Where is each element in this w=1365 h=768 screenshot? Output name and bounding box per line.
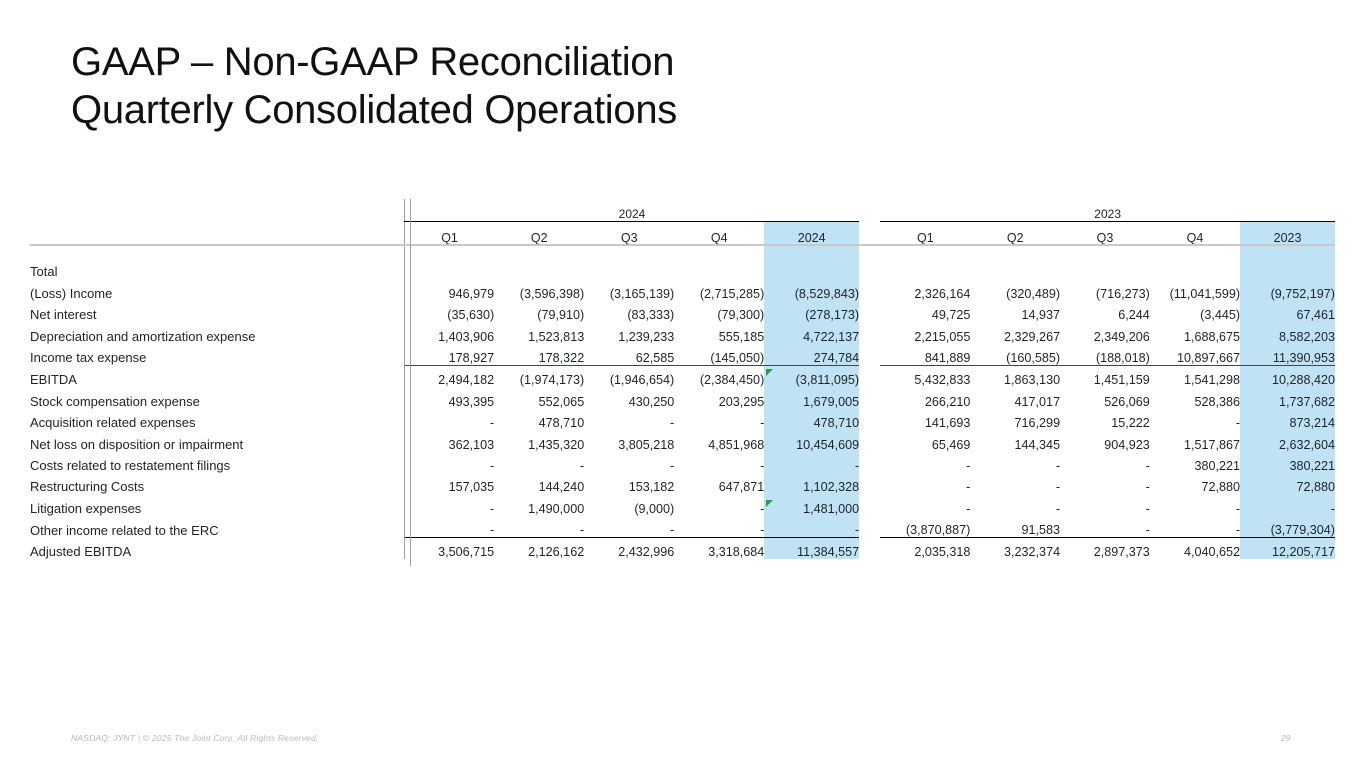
section-label-total: Total — [30, 258, 404, 279]
cell-2023-total: 2,632,604 — [1240, 430, 1335, 451]
cell-2024-q2: 178,322 — [494, 344, 584, 366]
table-row: Other income related to the ERC-----(3,8… — [30, 516, 1335, 538]
table-row: Restructuring Costs157,035144,240153,182… — [30, 473, 1335, 494]
col-header-2023-q1: Q1 — [880, 222, 970, 246]
cell-2024-q3: 153,182 — [584, 473, 674, 494]
cell-2023-q1: (3,870,887) — [880, 516, 970, 538]
block-gap — [859, 430, 880, 451]
col-header-2023-q2: Q2 — [970, 222, 1060, 246]
cell-2024-q2: 144,240 — [494, 473, 584, 494]
cell-2023-q1: - — [880, 494, 970, 515]
empty-cell — [404, 258, 494, 279]
cell-2024-total: - — [764, 452, 859, 473]
quarter-row-spacer — [30, 222, 404, 246]
comment-marker-icon — [766, 369, 773, 376]
quarter-header-row: Q1 Q2 Q3 Q4 2024 Q1 Q2 Q3 Q4 2023 — [30, 222, 1335, 246]
spacer-cell — [1060, 246, 1150, 259]
year-row-spacer — [30, 199, 404, 222]
col-header-2024-q4: Q4 — [674, 222, 764, 246]
cell-2023-q3: (716,273) — [1060, 279, 1150, 300]
cell-2024-q2: (3,596,398) — [494, 279, 584, 300]
empty-cell — [764, 258, 859, 279]
spacer-cell — [970, 246, 1060, 259]
cell-2024-total: 1,102,328 — [764, 473, 859, 494]
cell-2024-q3: 430,250 — [584, 387, 674, 408]
row-label: Depreciation and amortization expense — [30, 322, 404, 343]
spacer-cell — [764, 246, 859, 259]
empty-cell — [970, 258, 1060, 279]
cell-2024-total: 478,710 — [764, 409, 859, 430]
cell-2023-q2: 91,583 — [970, 516, 1060, 538]
table-row: Litigation expenses-1,490,000(9,000)-1,4… — [30, 494, 1335, 515]
spacer-cell — [880, 246, 970, 259]
cell-2023-total: 873,214 — [1240, 409, 1335, 430]
year-header-row: 2024 2023 — [30, 199, 1335, 222]
spacer-cell — [859, 246, 880, 259]
table-left-border — [410, 199, 411, 566]
cell-2023-q4: 10,897,667 — [1150, 344, 1240, 366]
cell-2024-q2: 552,065 — [494, 387, 584, 408]
cell-2024-total: 1,481,000 — [764, 494, 859, 515]
spacer-cell — [404, 246, 494, 259]
col-header-2023-q4: Q4 — [1150, 222, 1240, 246]
header-divider-rule — [30, 244, 1335, 245]
cell-2023-q4: - — [1150, 494, 1240, 515]
cell-2023-q3: 2,349,206 — [1060, 322, 1150, 343]
empty-cell — [880, 258, 970, 279]
cell-2024-q4: 647,871 — [674, 473, 764, 494]
cell-2024-q3: (1,946,654) — [584, 365, 674, 387]
col-header-2024-q2: Q2 — [494, 222, 584, 246]
block-gap — [859, 301, 880, 322]
cell-2023-q2: (320,489) — [970, 279, 1060, 300]
empty-cell — [1150, 258, 1240, 279]
table-row: Net interest(35,630)(79,910)(83,333)(79,… — [30, 301, 1335, 322]
cell-2024-q4: 555,185 — [674, 322, 764, 343]
cell-2024-q2: - — [494, 452, 584, 473]
cell-2023-q3: - — [1060, 473, 1150, 494]
table-row: Depreciation and amortization expense1,4… — [30, 322, 1335, 343]
cell-2024-q1: 362,103 — [404, 430, 494, 451]
cell-2024-q1: - — [404, 516, 494, 538]
cell-2024-q2: (1,974,173) — [494, 365, 584, 387]
section-label-row: Total — [30, 258, 1335, 279]
cell-2023-q1: 2,215,055 — [880, 322, 970, 343]
cell-2023-q3: - — [1060, 516, 1150, 538]
cell-2023-q3: 904,923 — [1060, 430, 1150, 451]
row-label: Net interest — [30, 301, 404, 322]
cell-2024-q3: - — [584, 452, 674, 473]
cell-2023-q2: 716,299 — [970, 409, 1060, 430]
cell-2024-q4: - — [674, 494, 764, 515]
header-spacer-row — [30, 246, 1335, 259]
col-header-2024-q1: Q1 — [404, 222, 494, 246]
cell-2024-q1: 157,035 — [404, 473, 494, 494]
cell-2024-q2: 1,435,320 — [494, 430, 584, 451]
table-body: Total (Loss) Income946,979(3,596,398)(3,… — [30, 246, 1335, 560]
cell-2024-q1: 493,395 — [404, 387, 494, 408]
spacer-cell — [584, 246, 674, 259]
block-gap — [859, 538, 880, 560]
cell-2023-q1: 65,469 — [880, 430, 970, 451]
cell-2024-q2: 2,126,162 — [494, 538, 584, 560]
empty-cell — [584, 258, 674, 279]
cell-2024-q2: - — [494, 516, 584, 538]
cell-2024-q3: 2,432,996 — [584, 538, 674, 560]
cell-2023-q3: 1,451,159 — [1060, 365, 1150, 387]
cell-2023-total: 12,205,717 — [1240, 538, 1335, 560]
empty-cell — [1240, 258, 1335, 279]
row-label: Income tax expense — [30, 344, 404, 366]
block-gap — [859, 516, 880, 538]
cell-2024-q3: 62,585 — [584, 344, 674, 366]
cell-2024-q3: 1,239,233 — [584, 322, 674, 343]
cell-2024-q3: 3,805,218 — [584, 430, 674, 451]
table-row: (Loss) Income946,979(3,596,398)(3,165,13… — [30, 279, 1335, 300]
cell-2024-total: - — [764, 516, 859, 538]
cell-2023-q3: - — [1060, 452, 1150, 473]
cell-2023-q1: 5,432,833 — [880, 365, 970, 387]
cell-2023-total: 380,221 — [1240, 452, 1335, 473]
row-label: Other income related to the ERC — [30, 516, 404, 538]
cell-2024-q3: (83,333) — [584, 301, 674, 322]
empty-cell — [859, 258, 880, 279]
spacer-cell — [1150, 246, 1240, 259]
cell-2024-q1: - — [404, 494, 494, 515]
cell-2024-q2: 478,710 — [494, 409, 584, 430]
cell-2024-total: 11,384,557 — [764, 538, 859, 560]
cell-2023-q2: 144,345 — [970, 430, 1060, 451]
cell-2023-q4: 4,040,652 — [1150, 538, 1240, 560]
cell-2023-q4: - — [1150, 409, 1240, 430]
cell-2023-total: (9,752,197) — [1240, 279, 1335, 300]
block-gap — [859, 199, 880, 222]
cell-2024-total: 10,454,609 — [764, 430, 859, 451]
cell-2024-q1: (35,630) — [404, 301, 494, 322]
cell-2023-q2: - — [970, 494, 1060, 515]
cell-2023-q4: 1,688,675 — [1150, 322, 1240, 343]
year-header-2024: 2024 — [404, 199, 859, 222]
cell-2024-q3: - — [584, 409, 674, 430]
cell-2023-q4: (3,445) — [1150, 301, 1240, 322]
empty-cell — [1060, 258, 1150, 279]
cell-2024-q4: 203,295 — [674, 387, 764, 408]
cell-2024-q2: (79,910) — [494, 301, 584, 322]
block-gap — [859, 409, 880, 430]
cell-2024-q3: - — [584, 516, 674, 538]
cell-2024-q4: (2,384,450) — [674, 365, 764, 387]
cell-2024-q4: - — [674, 452, 764, 473]
cell-2024-q1: - — [404, 452, 494, 473]
row-label: EBITDA — [30, 365, 404, 387]
table-row: Income tax expense178,927178,32262,585(1… — [30, 344, 1335, 366]
cell-2023-total: 10,288,420 — [1240, 365, 1335, 387]
cell-2024-q4: - — [674, 516, 764, 538]
spacer-cell — [1240, 246, 1335, 259]
block-gap — [859, 222, 880, 246]
cell-2023-q3: 6,244 — [1060, 301, 1150, 322]
block-gap — [859, 365, 880, 387]
cell-2023-q1: 141,693 — [880, 409, 970, 430]
page-number: 29 — [1281, 733, 1290, 743]
block-gap — [859, 452, 880, 473]
row-label: Costs related to restatement filings — [30, 452, 404, 473]
table-row: Adjusted EBITDA3,506,7152,126,1622,432,9… — [30, 538, 1335, 560]
cell-2023-q1: - — [880, 452, 970, 473]
cell-2023-q3: 15,222 — [1060, 409, 1150, 430]
row-label: (Loss) Income — [30, 279, 404, 300]
cell-2024-q4: - — [674, 409, 764, 430]
cell-2023-q4: - — [1150, 516, 1240, 538]
cell-2023-q1: 841,889 — [880, 344, 970, 366]
cell-2023-q4: (11,041,599) — [1150, 279, 1240, 300]
cell-2023-q1: 2,035,318 — [880, 538, 970, 560]
cell-2023-q1: 49,725 — [880, 301, 970, 322]
table-row: Acquisition related expenses-478,710--47… — [30, 409, 1335, 430]
cell-2023-q3: (188,018) — [1060, 344, 1150, 366]
cell-2023-q3: 526,069 — [1060, 387, 1150, 408]
reconciliation-table: 2024 2023 Q1 Q2 Q3 Q4 2024 Q1 Q2 Q3 Q4 2… — [30, 199, 1335, 559]
col-header-2023-total: 2023 — [1240, 222, 1335, 246]
cell-2023-total: 8,582,203 — [1240, 322, 1335, 343]
table-row: Net loss on disposition or impairment362… — [30, 430, 1335, 451]
row-label: Acquisition related expenses — [30, 409, 404, 430]
cell-2024-q1: 946,979 — [404, 279, 494, 300]
cell-2023-q2: 3,232,374 — [970, 538, 1060, 560]
cell-2024-total: (278,173) — [764, 301, 859, 322]
cell-2023-total: (3,779,304) — [1240, 516, 1335, 538]
cell-2024-q1: 2,494,182 — [404, 365, 494, 387]
row-label: Net loss on disposition or impairment — [30, 430, 404, 451]
row-label: Adjusted EBITDA — [30, 538, 404, 560]
block-gap — [859, 494, 880, 515]
cell-2024-total: (8,529,843) — [764, 279, 859, 300]
cell-2023-q4: 380,221 — [1150, 452, 1240, 473]
cell-2024-q4: (79,300) — [674, 301, 764, 322]
cell-2023-q4: 528,386 — [1150, 387, 1240, 408]
table-row: Costs related to restatement filings----… — [30, 452, 1335, 473]
cell-2024-q4: (145,050) — [674, 344, 764, 366]
col-header-2024-total: 2024 — [764, 222, 859, 246]
block-gap — [859, 279, 880, 300]
cell-2024-total: (3,811,095) — [764, 365, 859, 387]
cell-2024-q1: 3,506,715 — [404, 538, 494, 560]
cell-2023-q4: 72,880 — [1150, 473, 1240, 494]
cell-2023-q4: 1,541,298 — [1150, 365, 1240, 387]
page-title: GAAP – Non-GAAP Reconciliation Quarterly… — [71, 38, 971, 134]
cell-2023-total: 1,737,682 — [1240, 387, 1335, 408]
block-gap — [859, 387, 880, 408]
cell-2023-q2: (160,585) — [970, 344, 1060, 366]
cell-2024-q4: (2,715,285) — [674, 279, 764, 300]
cell-2023-q2: 14,937 — [970, 301, 1060, 322]
footer-legal-text: NASDAQ: JYNT | © 2025 The Joint Corp. Al… — [71, 733, 318, 743]
cell-2023-q2: 1,863,130 — [970, 365, 1060, 387]
cell-2023-q2: 2,329,267 — [970, 322, 1060, 343]
row-label: Restructuring Costs — [30, 473, 404, 494]
cell-2023-q3: 2,897,373 — [1060, 538, 1150, 560]
col-header-2024-q3: Q3 — [584, 222, 674, 246]
table-row: Stock compensation expense493,395552,065… — [30, 387, 1335, 408]
cell-2023-q2: - — [970, 473, 1060, 494]
cell-2023-total: 72,880 — [1240, 473, 1335, 494]
cell-2023-total: 67,461 — [1240, 301, 1335, 322]
cell-2024-total: 4,722,137 — [764, 322, 859, 343]
table-head: 2024 2023 Q1 Q2 Q3 Q4 2024 Q1 Q2 Q3 Q4 2… — [30, 199, 1335, 246]
table-row: EBITDA2,494,182(1,974,173)(1,946,654)(2,… — [30, 365, 1335, 387]
cell-2024-q2: 1,490,000 — [494, 494, 584, 515]
empty-cell — [674, 258, 764, 279]
cell-2023-q3: - — [1060, 494, 1150, 515]
row-label: Stock compensation expense — [30, 387, 404, 408]
block-gap — [859, 322, 880, 343]
cell-2024-q4: 3,318,684 — [674, 538, 764, 560]
cell-2024-q3: (3,165,139) — [584, 279, 674, 300]
empty-cell — [494, 258, 584, 279]
cell-2023-total: 11,390,953 — [1240, 344, 1335, 366]
cell-2024-q4: 4,851,968 — [674, 430, 764, 451]
cell-2023-q1: 266,210 — [880, 387, 970, 408]
cell-2023-q2: - — [970, 452, 1060, 473]
cell-2024-q2: 1,523,813 — [494, 322, 584, 343]
spacer-cell — [494, 246, 584, 259]
cell-2024-total: 274,784 — [764, 344, 859, 366]
cell-2023-total: - — [1240, 494, 1335, 515]
col-header-2023-q3: Q3 — [1060, 222, 1150, 246]
cell-2024-q3: (9,000) — [584, 494, 674, 515]
block-gap — [859, 473, 880, 494]
cell-2024-q1: 178,927 — [404, 344, 494, 366]
cell-2024-total: 1,679,005 — [764, 387, 859, 408]
row-label: Litigation expenses — [30, 494, 404, 515]
spacer-cell — [674, 246, 764, 259]
cell-2023-q4: 1,517,867 — [1150, 430, 1240, 451]
spacer-cell — [30, 246, 404, 259]
cell-2024-q1: - — [404, 409, 494, 430]
cell-2023-q2: 417,017 — [970, 387, 1060, 408]
cell-2023-q1: 2,326,164 — [880, 279, 970, 300]
cell-2024-q1: 1,403,906 — [404, 322, 494, 343]
block-gap — [859, 344, 880, 366]
cell-2023-q1: - — [880, 473, 970, 494]
year-header-2023: 2023 — [880, 199, 1335, 222]
comment-marker-icon — [766, 500, 773, 507]
